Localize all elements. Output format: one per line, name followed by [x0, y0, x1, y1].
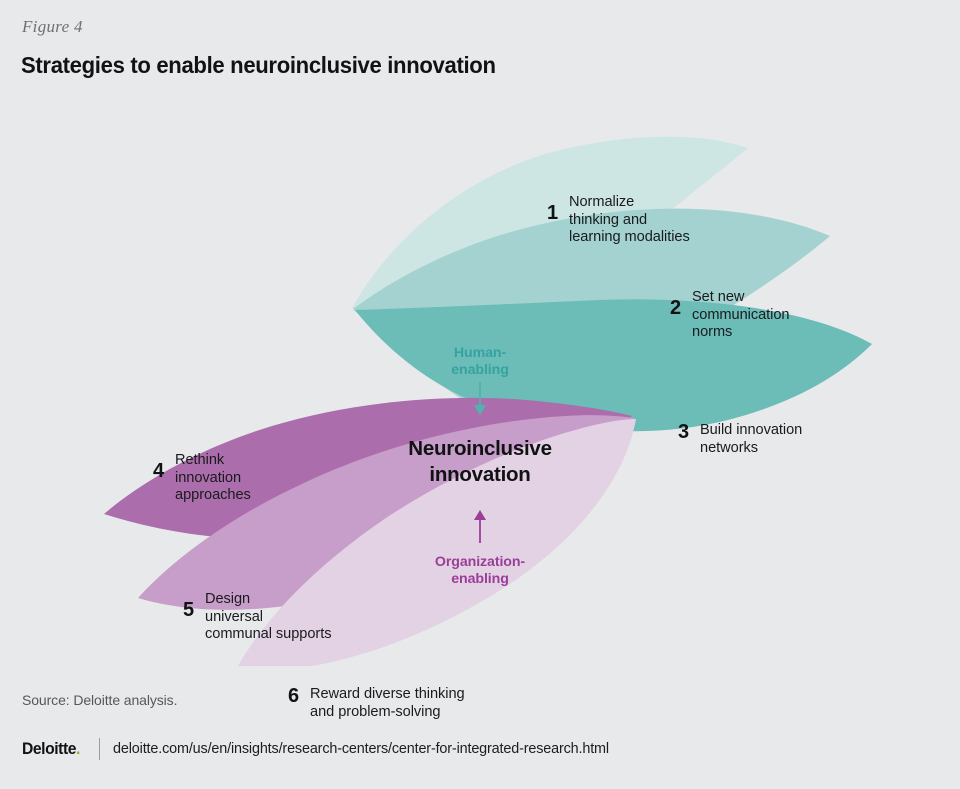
petal-number-2: 2 — [670, 289, 692, 317]
petal-label-3: 3 Build innovation networks — [678, 422, 802, 457]
petal-label-4: 4 Rethink innovation approaches — [153, 452, 251, 505]
petal-text-2: Set new communication norms — [692, 289, 790, 342]
petal-number-3: 3 — [678, 422, 700, 441]
petal-label-6: 6 Reward diverse thinking and problem-so… — [288, 686, 465, 721]
petal-text-6: Reward diverse thinking and problem-solv… — [310, 686, 465, 721]
human-enabling-caption: Human- enabling — [380, 345, 580, 378]
brand-bar: Deloitte. deloitte.com/us/en/insights/re… — [22, 737, 609, 761]
source-note: Source: Deloitte analysis. — [22, 692, 177, 708]
arrow-down-icon — [470, 382, 490, 416]
petal-number-6: 6 — [288, 686, 310, 705]
petal-label-2: 2 Set new communication norms — [670, 289, 790, 342]
diagram-canvas: 1 Normalize thinking and learning modali… — [0, 86, 960, 666]
figure-page: Figure 4 Strategies to enable neuroinclu… — [0, 0, 960, 789]
petal-number-1: 1 — [547, 194, 569, 222]
brand-name: Deloitte — [22, 740, 76, 758]
petal-text-5: Design universal communal supports — [205, 591, 332, 644]
center-title: Neuroinclusive innovation — [370, 436, 590, 488]
brand-url[interactable]: deloitte.com/us/en/insights/research-cen… — [113, 741, 609, 757]
arrow-up-icon — [470, 509, 490, 543]
petal-text-4: Rethink innovation approaches — [175, 452, 251, 505]
brand-divider — [99, 738, 100, 760]
figure-number-label: Figure 4 — [22, 17, 83, 37]
brand-dot: . — [76, 740, 80, 758]
petal-number-4: 4 — [153, 452, 175, 480]
organization-enabling-caption: Organization- enabling — [380, 554, 580, 587]
petal-label-5: 5 Design universal communal supports — [183, 591, 332, 644]
page-title: Strategies to enable neuroinclusive inno… — [21, 52, 496, 79]
petal-number-5: 5 — [183, 591, 205, 619]
petal-text-1: Normalize thinking and learning modaliti… — [569, 194, 690, 247]
petal-text-3: Build innovation networks — [700, 422, 802, 457]
petal-label-1: 1 Normalize thinking and learning modali… — [547, 194, 690, 247]
deloitte-logo: Deloitte. — [22, 740, 80, 759]
